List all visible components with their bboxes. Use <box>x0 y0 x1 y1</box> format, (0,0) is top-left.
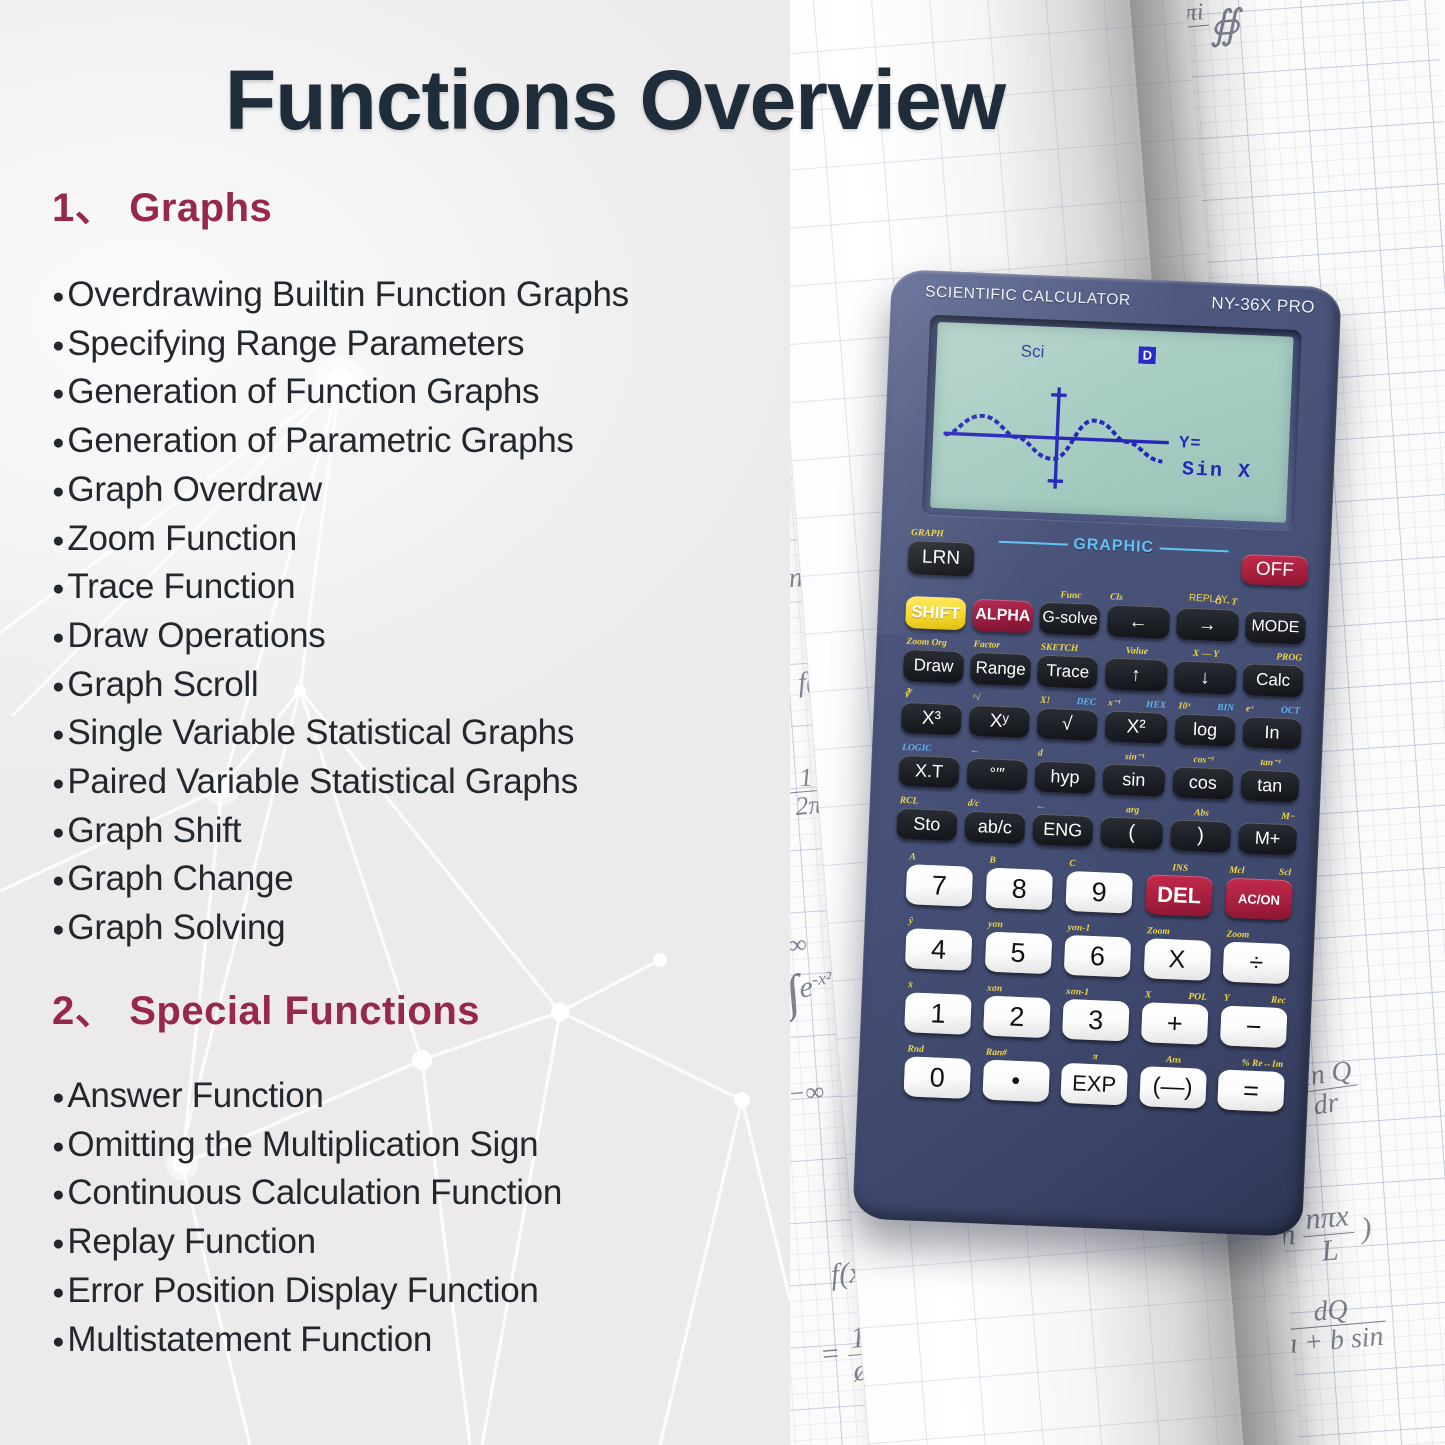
calculator: SCIENTIFIC CALCULATOR NY-36X PRO Sci D <box>852 269 1341 1237</box>
list-item: Graph Overdraw <box>52 467 629 516</box>
key-2[interactable]: xσn 2 <box>983 996 1051 1039</box>
key-eng-shift-label: ← <box>1035 802 1045 812</box>
key-ln[interactable]: eˣ OCT In <box>1242 716 1301 749</box>
key-6[interactable]: yσn-1 6 <box>1064 935 1132 978</box>
key-log-label: log <box>1193 719 1218 741</box>
key-exp-label: EXP <box>1072 1070 1117 1098</box>
key-close-paren[interactable]: Abs ) <box>1170 819 1231 852</box>
key-ln-shift-label: eˣ <box>1246 705 1254 715</box>
key-dms-label: °′″ <box>989 765 1005 784</box>
key-0-shift-label: Rnd <box>907 1045 924 1055</box>
key-mplus-label: M+ <box>1254 828 1280 850</box>
key-sqrt[interactable]: X! DEC √ <box>1037 707 1098 740</box>
key-5-shift-label: yσn <box>988 920 1003 930</box>
key-lrn-label: LRN <box>922 547 961 571</box>
graphic-rule-right <box>1160 548 1229 552</box>
list-item: Replay Function <box>52 1219 562 1268</box>
key-dot-label: • <box>1011 1066 1021 1095</box>
key-alpha[interactable]: ALPHA <box>972 599 1033 633</box>
key-6-label: 6 <box>1089 940 1105 972</box>
key-range[interactable]: Factor Range <box>970 652 1031 686</box>
key-plus[interactable]: X POL + <box>1141 1002 1209 1045</box>
key-divide[interactable]: Zoom ÷ <box>1223 941 1291 984</box>
key-4[interactable]: ȳ 4 <box>905 928 973 971</box>
key-open-paren-label: ( <box>1128 821 1136 844</box>
key-left-shift-label: Cls <box>1110 593 1123 603</box>
key-dot-shift-label: Ran# <box>986 1048 1008 1058</box>
key-off-label: OFF <box>1255 558 1294 582</box>
key-x2-shift-label: x⁻¹ <box>1108 699 1121 709</box>
key-arrow-up[interactable]: Value ↑ <box>1104 657 1167 692</box>
section-heading-1: 1、Graphs <box>52 175 272 233</box>
key-3-shift-label: xσn-1 <box>1066 987 1089 997</box>
key-decimal-point[interactable]: Ran# • <box>982 1060 1050 1103</box>
list-item: Graph Solving <box>52 905 629 954</box>
arrow-up-icon: ↑ <box>1131 665 1141 684</box>
key-sin-label: sin <box>1122 769 1146 791</box>
key-calc-label: Calc <box>1256 670 1291 691</box>
key-x2-label: X² <box>1126 716 1146 739</box>
list-item: Zoom Function <box>52 516 629 565</box>
key-dms-shift-label: ← <box>970 746 980 756</box>
key-draw-label: Draw <box>913 655 953 677</box>
key-negative-shift-label: Ans <box>1166 1056 1182 1066</box>
key-lrn[interactable]: GRAPH LRN <box>907 540 974 577</box>
key-1-label: 1 <box>930 998 946 1030</box>
arrow-right-icon: → <box>1197 615 1217 635</box>
key-arrow-left[interactable]: Cls ← <box>1106 604 1169 639</box>
list-item: Answer Function <box>52 1073 562 1122</box>
arrow-left-icon: ← <box>1128 612 1148 632</box>
key-7[interactable]: A 7 <box>906 864 974 907</box>
key-sqrt-alpha-label: DEC <box>1076 698 1096 708</box>
key-mode-label: MODE <box>1251 617 1300 637</box>
key-arrow-right[interactable]: G→T REPLAY → <box>1176 607 1239 642</box>
key-minus[interactable]: Y Rec − <box>1220 1005 1288 1048</box>
list-item: Error Position Display Function <box>52 1268 562 1317</box>
key-open-paren-shift-label: arg <box>1126 806 1140 816</box>
key-plus-shift-label: X <box>1145 991 1152 1001</box>
list-item: Overdrawing Builtin Function Graphs <box>52 272 629 321</box>
key-shift-label: SHIFT <box>911 602 961 624</box>
section-number-2: 2、 <box>52 989 115 1033</box>
key-calc[interactable]: PROG Calc <box>1242 663 1303 697</box>
list-item: Graph Change <box>52 856 629 905</box>
key-x3-shift-label: ∛ <box>904 690 910 700</box>
key-alpha-label: ALPHA <box>975 606 1031 626</box>
key-4-shift-label: ȳ <box>909 917 914 927</box>
keypad: GRAPH LRN OFF GRAPHIC SHIFT <box>852 521 1331 1237</box>
key-x-power-y[interactable]: ˣ√ Xʸ <box>969 705 1030 738</box>
key-abc-fraction[interactable]: d/c ab/c <box>964 811 1025 844</box>
key-cos-label: cos <box>1188 772 1217 794</box>
key-sto-shift-label: RCL <box>900 796 919 806</box>
key-exp-shift-label: π <box>1092 1053 1098 1063</box>
key-shift[interactable]: SHIFT <box>905 596 966 630</box>
arrow-down-icon: ↓ <box>1200 668 1210 687</box>
brand-row: SCIENTIFIC CALCULATOR NY-36X PRO <box>890 282 1341 327</box>
brand-name: SCIENTIFIC CALCULATOR <box>925 283 1131 310</box>
lcd-screen: Sci D Y= Sin X <box>930 322 1293 523</box>
key-3-label: 3 <box>1088 1004 1104 1036</box>
key-2-shift-label: xσn <box>987 984 1003 994</box>
key-0-label: 0 <box>929 1062 945 1094</box>
key-8-label: 8 <box>1011 873 1027 905</box>
key-cos-shift-label: cos⁻¹ <box>1193 756 1214 766</box>
key-log[interactable]: 10ˣ BIN log <box>1174 713 1235 746</box>
replay-label: REPLAY <box>1189 594 1228 606</box>
key-del-shift-label: INS <box>1172 864 1188 874</box>
key-8-alpha-label: B <box>989 856 996 866</box>
key-minus-label: − <box>1245 1011 1262 1043</box>
key-ac-mcl-label: Mcl <box>1229 866 1245 876</box>
list-item: Single Variable Statistical Graphs <box>52 710 629 759</box>
key-x-t[interactable]: LOGIC X.T <box>898 755 959 788</box>
section-title-1: Graphs <box>129 186 272 230</box>
key-gsolve[interactable]: Func G-solve <box>1039 602 1100 636</box>
key-sqrt-shift-label: X! <box>1040 696 1050 706</box>
key-ln-alpha-label: OCT <box>1281 706 1300 716</box>
key-xy-shift-label: ˣ√ <box>972 693 981 703</box>
feature-list-special: Answer Function Omitting the Multiplicat… <box>52 1073 562 1365</box>
key-gsolve-label: G-solve <box>1042 609 1098 629</box>
key-mplus-shift-label: M− <box>1281 812 1296 822</box>
key-2-label: 2 <box>1009 1001 1025 1033</box>
key-tan-label: tan <box>1257 775 1283 797</box>
lcd-sine-graph <box>939 378 1173 498</box>
key-sqrt-label: √ <box>1062 713 1073 735</box>
list-item: Generation of Parametric Graphs <box>52 418 629 467</box>
key-exp[interactable]: π EXP <box>1060 1063 1128 1106</box>
key-sin[interactable]: sin⁻¹ sin <box>1102 763 1165 797</box>
graphic-band: GRAPHIC <box>998 534 1228 560</box>
key-3[interactable]: xσn-1 3 <box>1062 999 1130 1042</box>
key-9[interactable]: C 9 <box>1065 871 1133 914</box>
key-sto-label: Sto <box>913 813 941 835</box>
key-tan-shift-label: tan⁻¹ <box>1260 758 1281 768</box>
key-up-shift-label: Value <box>1126 647 1149 657</box>
key-equals-shift-label: % Re↔Im <box>1241 1059 1283 1070</box>
key-lrn-shift-label: GRAPH <box>911 529 944 540</box>
lcd-function-expression: Sin X <box>1181 458 1252 484</box>
key-range-shift-label: Factor <box>973 640 1000 651</box>
key-x-cubed[interactable]: ∛ X³ <box>901 702 962 735</box>
key-x-squared[interactable]: x⁻¹ HEX X² <box>1104 710 1167 744</box>
feature-list-graphs: Overdrawing Builtin Function Graphs Spec… <box>52 272 629 954</box>
list-item: Paired Variable Statistical Graphs <box>52 759 629 808</box>
key-degrees-minutes-seconds[interactable]: ← °′″ <box>966 758 1027 791</box>
key-open-paren[interactable]: arg ( <box>1100 816 1163 850</box>
key-xt-label: X.T <box>915 760 944 782</box>
key-divide-shift-label: Zoom <box>1226 930 1249 940</box>
key-hyp-shift-label: d <box>1038 749 1043 759</box>
key-minus-shift-label: Y <box>1224 994 1230 1004</box>
key-5-label: 5 <box>1010 937 1026 969</box>
key-eng-label: ENG <box>1043 819 1083 842</box>
key-cos[interactable]: cos⁻¹ cos <box>1172 766 1233 799</box>
key-sin-shift-label: sin⁻¹ <box>1125 753 1145 763</box>
lcd-mode-indicator: Sci <box>1020 341 1044 362</box>
page-title: Functions Overview <box>0 52 1230 149</box>
key-range-label: Range <box>975 658 1026 680</box>
list-item: Graph Shift <box>52 808 629 857</box>
key-hyp-label: hyp <box>1050 766 1080 788</box>
key-trace-shift-label: SKETCH <box>1041 643 1079 654</box>
section-title-2: Special Functions <box>129 989 480 1033</box>
key-off[interactable]: OFF <box>1241 554 1308 587</box>
key-ln-label: In <box>1264 722 1280 744</box>
list-item: Multistatement Function <box>52 1317 562 1366</box>
calculator-body: SCIENTIFIC CALCULATOR NY-36X PRO Sci D <box>852 269 1341 1237</box>
key-negative-label: (—) <box>1152 1073 1193 1103</box>
key-arrow-down[interactable]: X — Y ↓ <box>1173 660 1236 695</box>
lcd-angle-indicator: D <box>1138 346 1156 364</box>
key-x2-alpha-label: HEX <box>1146 701 1166 711</box>
key-1-shift-label: x̄ <box>908 981 913 991</box>
key-trace-label: Trace <box>1046 661 1090 683</box>
key-hyp[interactable]: d hyp <box>1034 760 1095 793</box>
key-draw-shift-label: Zoom Org <box>906 637 947 648</box>
key-5[interactable]: yσn 5 <box>984 932 1052 975</box>
key-gsolve-shift-label: Func <box>1060 591 1082 601</box>
section-heading-2: 2、Special Functions <box>52 978 480 1036</box>
key-7-label: 7 <box>931 870 947 902</box>
key-memory-plus[interactable]: M− M+ <box>1238 822 1297 855</box>
model-number: NY-36X PRO <box>1211 293 1315 317</box>
key-negative-sign[interactable]: Ans (—) <box>1139 1066 1207 1109</box>
list-item: Omitting the Multiplication Sign <box>52 1122 562 1171</box>
key-draw[interactable]: Zoom Org Draw <box>903 649 964 683</box>
key-calc-shift-label: PROG <box>1276 653 1302 664</box>
list-item: Specifying Range Parameters <box>52 321 629 370</box>
section-number-1: 1、 <box>52 186 115 230</box>
key-minus-alpha-label: Rec <box>1271 996 1286 1006</box>
graphic-band-label: GRAPHIC <box>1073 536 1154 557</box>
key-9-label: 9 <box>1091 876 1107 908</box>
key-x3-label: X³ <box>921 707 941 730</box>
key-close-paren-label: ) <box>1197 824 1205 847</box>
key-del-label: DEL <box>1157 882 1202 910</box>
key-multiply-label: X <box>1168 945 1186 975</box>
key-7-alpha-label: A <box>909 853 916 863</box>
key-equals-label: = <box>1242 1075 1259 1107</box>
key-multiply[interactable]: Zoom X <box>1143 938 1211 981</box>
key-xy-label: Xʸ <box>989 710 1009 733</box>
list-item: Continuous Calculation Function <box>52 1170 562 1219</box>
key-abc-shift-label: d/c <box>968 799 980 809</box>
key-down-shift-label: X — Y <box>1193 649 1220 660</box>
key-8[interactable]: B 8 <box>985 867 1053 910</box>
key-xt-alpha-label: LOGIC <box>902 743 932 754</box>
key-del[interactable]: INS DEL <box>1145 874 1213 917</box>
key-9-alpha-label: C <box>1069 859 1076 869</box>
list-item: Generation of Function Graphs <box>52 369 629 418</box>
screen-bezel: Sci D Y= Sin X <box>922 315 1302 530</box>
key-0[interactable]: Rnd 0 <box>903 1056 971 1099</box>
key-6-shift-label: yσn-1 <box>1067 923 1090 933</box>
key-log-shift-label: 10ˣ <box>1178 702 1191 712</box>
key-plus-alpha-label: POL <box>1188 993 1207 1003</box>
key-log-alpha-label: BIN <box>1217 703 1234 713</box>
key-eng[interactable]: ← ENG <box>1032 813 1093 846</box>
key-plus-label: + <box>1166 1008 1183 1040</box>
key-sto[interactable]: RCL Sto <box>896 808 957 841</box>
key-mode[interactable]: MODE <box>1245 610 1306 644</box>
lcd-y-label: Y= <box>1179 434 1202 454</box>
graphic-rule-left <box>999 541 1068 545</box>
key-ac-on[interactable]: Mcl Scl AC/ON <box>1225 878 1293 921</box>
key-ac-scl-label: Scl <box>1279 868 1292 878</box>
key-1[interactable]: x̄ 1 <box>904 992 972 1035</box>
list-item: Draw Operations <box>52 613 629 662</box>
key-divide-label: ÷ <box>1249 948 1264 978</box>
key-tan[interactable]: tan⁻¹ tan <box>1240 769 1299 802</box>
list-item: Graph Scroll <box>52 662 629 711</box>
key-close-paren-shift-label: Abs <box>1194 809 1209 819</box>
key-abc-label: ab/c <box>977 816 1012 838</box>
key-4-label: 4 <box>930 934 946 966</box>
list-item: Trace Function <box>52 564 629 613</box>
key-trace[interactable]: SKETCH Trace <box>1037 654 1098 688</box>
key-equals[interactable]: % Re↔Im = <box>1217 1069 1285 1112</box>
key-multiply-shift-label: Zoom <box>1147 927 1170 937</box>
poster-root: \u03A3 ∑n=0 ( ancos nπxL ∑n=0 f(n)(a)n 2… <box>0 0 1445 1445</box>
key-ac-on-label: AC/ON <box>1238 892 1280 907</box>
